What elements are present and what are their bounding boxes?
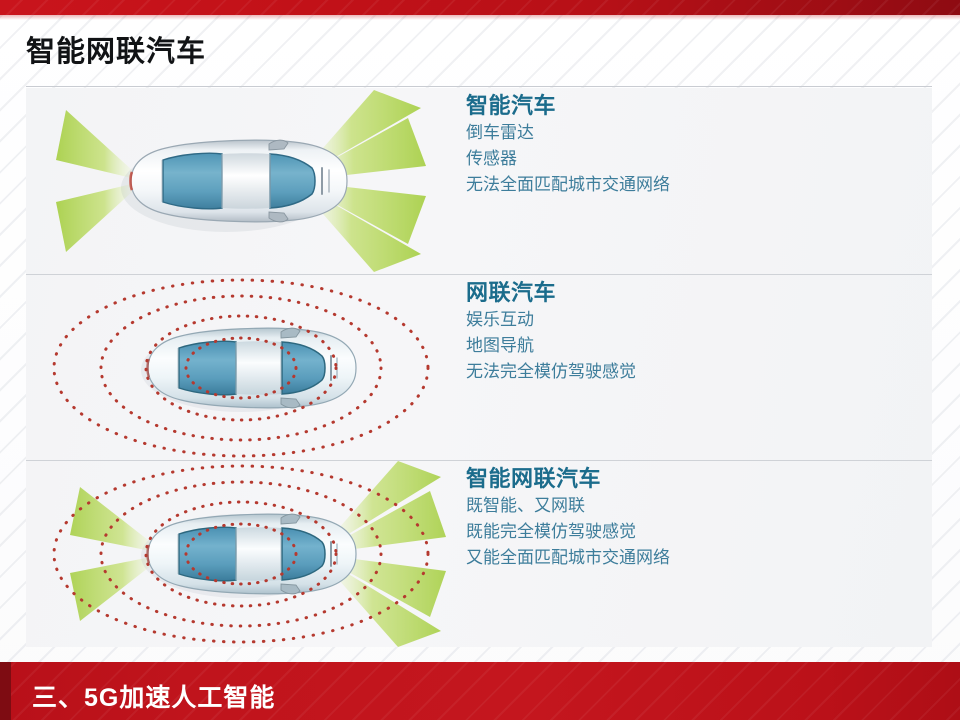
section-row-connected-car: 网联汽车 娱乐互动 地图导航 无法完全模仿驾驶感觉 [26, 274, 932, 460]
section-text-smart-connected-car: 智能网联汽车 既智能、又网联 既能完全模仿驾驶感觉 又能全面匹配城市交通网络 [466, 461, 926, 681]
title-divider [26, 86, 932, 87]
section-row-smart-connected-car: 智能网联汽车 既智能、又网联 既能完全模仿驾驶感觉 又能全面匹配城市交通网络 [26, 460, 932, 646]
illustration-car-with-radar-cones [26, 88, 456, 274]
section-lines: 倒车雷达 传感器 无法全面匹配城市交通网络 [466, 120, 926, 198]
section-line: 倒车雷达 [466, 120, 926, 146]
content-panel: 智能汽车 倒车雷达 传感器 无法全面匹配城市交通网络 [26, 88, 932, 647]
section-heading: 智能网联汽车 [466, 461, 601, 493]
slide: 智能网联汽车 [0, 0, 960, 720]
top-red-band [0, 0, 960, 15]
section-line: 地图导航 [466, 333, 926, 359]
section-lines: 娱乐互动 地图导航 无法完全模仿驾驶感觉 [466, 307, 926, 385]
section-heading: 网联汽车 [466, 275, 556, 307]
illustration-car-with-network-rings [26, 275, 456, 461]
section-line: 既智能、又网联 [466, 493, 926, 519]
section-line: 传感器 [466, 146, 926, 172]
page-title: 智能网联汽车 [26, 28, 206, 70]
section-row-smart-car: 智能汽车 倒车雷达 传感器 无法全面匹配城市交通网络 [26, 88, 932, 274]
footer-left-accent [0, 662, 11, 720]
section-lines: 既智能、又网联 既能完全模仿驾驶感觉 又能全面匹配城市交通网络 [466, 493, 926, 571]
section-line: 无法完全模仿驾驶感觉 [466, 359, 926, 385]
illustration-car-with-radar-and-network [26, 461, 456, 647]
section-line: 又能全面匹配城市交通网络 [466, 545, 926, 571]
section-line: 娱乐互动 [466, 307, 926, 333]
section-heading: 智能汽车 [466, 88, 556, 120]
footer-section-title: 三、5G加速人工智能 [32, 678, 275, 714]
section-line: 既能完全模仿驾驶感觉 [466, 519, 926, 545]
top-red-band-shadow [0, 15, 960, 20]
car-top-view [121, 140, 347, 232]
section-line: 无法全面匹配城市交通网络 [466, 172, 926, 198]
